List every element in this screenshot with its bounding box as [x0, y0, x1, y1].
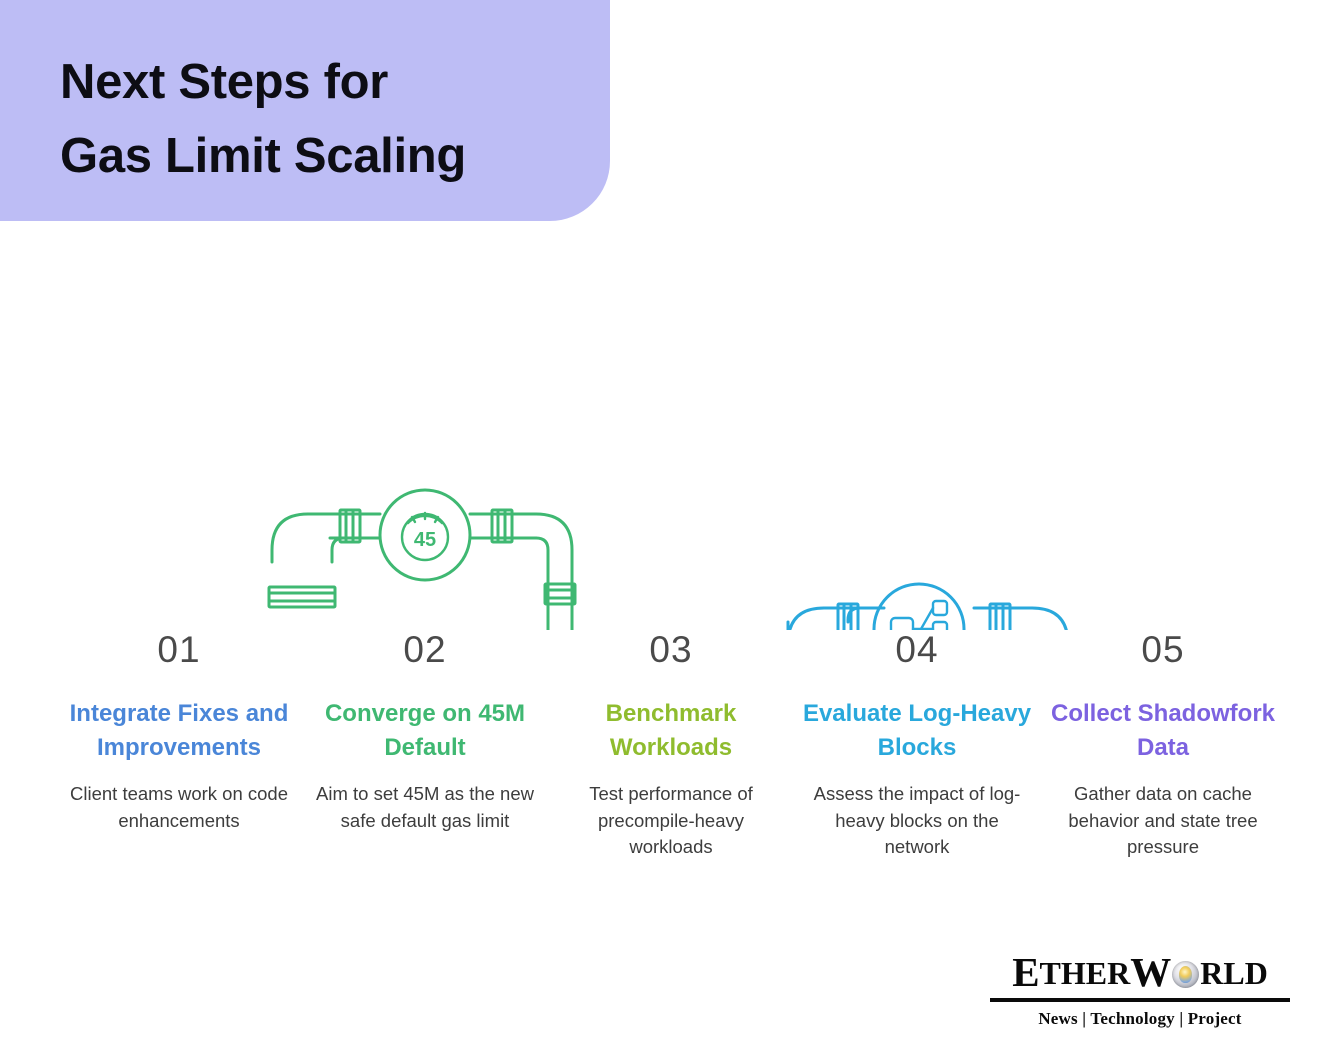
step-column-02: 02 Converge on 45M Default Aim to set 45…	[302, 630, 548, 861]
step-number-03: 03	[556, 630, 786, 671]
logo-letter-e: E	[1012, 952, 1039, 993]
logo-wordmark: ETHERWRLD	[990, 952, 1290, 993]
pipe-segment-01	[104, 562, 335, 630]
page-title-line2: Gas Limit Scaling	[60, 120, 610, 194]
step-number-01: 01	[64, 630, 294, 671]
infographic-page: Next Steps for Gas Limit Scaling	[0, 0, 1318, 1055]
step-number-04: 04	[802, 630, 1032, 671]
logo-tagline: News | Technology | Project	[990, 1009, 1290, 1029]
gauge-value-label: 45	[414, 529, 436, 551]
page-title-line1: Next Steps for	[60, 46, 610, 120]
step-description-04: Assess the impact of log-heavy blocks on…	[802, 781, 1032, 861]
step-title-04: Evaluate Log-Heavy Blocks	[802, 697, 1032, 765]
globe-icon	[1172, 961, 1199, 988]
etherworld-logo: ETHERWRLD News | Technology | Project	[990, 952, 1290, 1029]
step-number-02: 02	[310, 630, 540, 671]
logo-letters-rld: RLD	[1200, 957, 1268, 989]
step-description-03: Test performance of precompile-heavy wor…	[556, 781, 786, 861]
pipeline-graphic: 45	[0, 232, 1318, 630]
gauge-45-icon: 45	[402, 513, 448, 560]
step-title-01: Integrate Fixes and Improvements	[64, 697, 294, 765]
step-number-05: 05	[1048, 630, 1278, 671]
step-description-01: Client teams work on code enhancements	[64, 781, 294, 835]
logo-letters-ther: THER	[1040, 957, 1131, 989]
step-description-02: Aim to set 45M as the new safe default g…	[310, 781, 540, 835]
step-title-03: Benchmark Workloads	[556, 697, 786, 765]
network-share-icon	[891, 601, 947, 630]
logo-letter-w: W	[1130, 952, 1171, 993]
step-description-05: Gather data on cache behavior and state …	[1048, 781, 1278, 861]
step-title-02: Converge on 45M Default	[310, 697, 540, 765]
step-column-04: 04 Evaluate Log-Heavy Blocks Assess the …	[794, 630, 1040, 861]
pipe-transition-green-olive	[548, 604, 572, 630]
title-banner: Next Steps for Gas Limit Scaling	[0, 0, 610, 221]
step-title-05: Collect Shadowfork Data	[1048, 697, 1278, 765]
step-column-01: 01 Integrate Fixes and Improvements Clie…	[56, 630, 302, 861]
step-column-03: 03 Benchmark Workloads Test performance …	[548, 630, 794, 861]
steps-row: 01 Integrate Fixes and Improvements Clie…	[0, 630, 1318, 861]
step-column-05: 05 Collect Shadowfork Data Gather data o…	[1040, 630, 1286, 861]
logo-divider	[990, 998, 1290, 1002]
